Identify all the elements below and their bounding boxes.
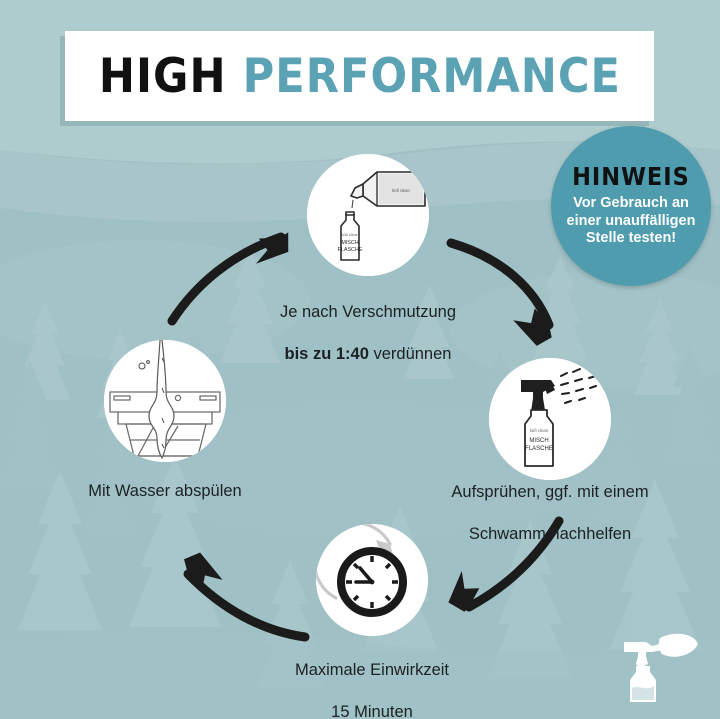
arrow-time-to-rinse-shaft xyxy=(188,574,305,637)
mixing-bottle-icon: küfi clean küfi clean MISCH FLASCHE xyxy=(307,154,429,276)
step-dilute-bold: bis zu 1:40 xyxy=(285,345,369,363)
bottle-liquid-icon xyxy=(632,686,654,700)
watermark-svg xyxy=(608,626,700,706)
spray-label-line2: FLASCHE xyxy=(525,446,553,452)
step-dilute-label: Je nach Verschmutzung bis zu 1:40 verdün… xyxy=(218,281,518,365)
leaf-icon xyxy=(659,634,698,657)
water-rinse-icon-circle xyxy=(104,340,226,462)
trigger-icon xyxy=(624,642,662,656)
mixing-bottle-icon-circle: küfi clean küfi clean MISCH FLASCHE xyxy=(307,154,429,276)
mixing-bottle-neck xyxy=(346,212,354,215)
clock-icon xyxy=(316,524,428,636)
step-time-line2: 15 Minuten xyxy=(331,703,413,719)
clock-icon-circle xyxy=(316,524,428,636)
step-spray-line1: Aufsprühen, ggf. mit einem xyxy=(451,483,648,501)
bottle-label-line2: FLASCHE xyxy=(338,247,363,253)
bottle-brand: küfi clean xyxy=(342,232,359,237)
water-rinse-icon xyxy=(104,340,226,462)
step-dilute-line1: Je nach Verschmutzung xyxy=(280,303,456,321)
infographic-poster: HIGH PERFORMANCE HINWEIS Vor Gebrauch an… xyxy=(0,0,720,719)
canister-brand: küfi clean xyxy=(392,188,410,193)
step-time-line1: Maximale Einwirkzeit xyxy=(295,661,449,679)
step-spray-label: Aufsprühen, ggf. mit einem Schwamm nachh… xyxy=(400,461,700,545)
step-spray-line2: Schwamm nachhelfen xyxy=(469,525,631,543)
step-time-label: Maximale Einwirkzeit 15 Minuten xyxy=(222,639,522,719)
spray-bottle-brand: küfi clean xyxy=(530,428,549,433)
bottle-label-line1: MISCH xyxy=(341,240,358,246)
step-dilute-line2: verdünnen xyxy=(369,345,452,363)
step-rinse-label: Mit Wasser abspülen xyxy=(35,460,295,502)
step-rinse-line1: Mit Wasser abspülen xyxy=(88,482,241,500)
clock-center-dot xyxy=(370,580,375,585)
spray-label-line1: MISCH xyxy=(529,438,548,444)
spray-bottle-leaf-logo xyxy=(608,626,700,706)
